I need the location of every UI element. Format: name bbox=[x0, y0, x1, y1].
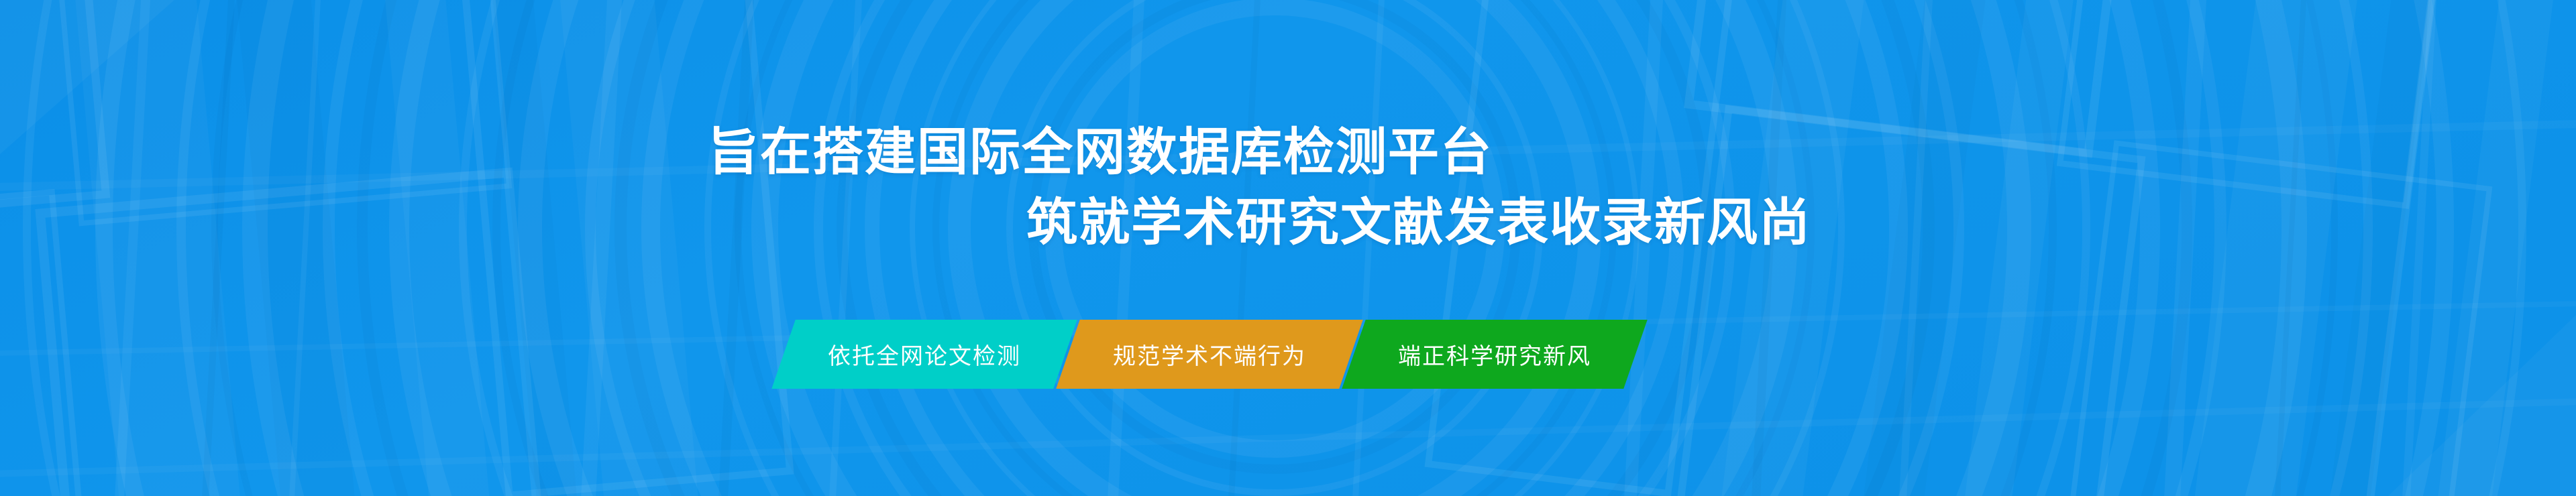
headline-line-2: 筑就学术研究文献发表收录新风尚 bbox=[0, 188, 1851, 259]
banner-content: 旨在搭建国际全网数据库检测平台 筑就学术研究文献发表收录新风尚 依托全网论文检测… bbox=[0, 0, 2576, 496]
feature-tag-misconduct-label: 规范学术不端行为 bbox=[1113, 338, 1306, 371]
feature-tag-integrity-label: 端正科学研究新风 bbox=[1398, 338, 1591, 371]
hero-banner: 旨在搭建国际全网数据库检测平台 筑就学术研究文献发表收录新风尚 依托全网论文检测… bbox=[0, 0, 2576, 496]
feature-tag-strip: 依托全网论文检测 规范学术不端行为 端正科学研究新风 bbox=[784, 320, 1635, 389]
feature-tag-misconduct[interactable]: 规范学术不端行为 bbox=[1056, 320, 1362, 389]
feature-tag-integrity[interactable]: 端正科学研究新风 bbox=[1342, 320, 1647, 389]
headline-line-1: 旨在搭建国际全网数据库检测平台 bbox=[0, 118, 1851, 188]
feature-tag-detection[interactable]: 依托全网论文检测 bbox=[771, 320, 1077, 389]
feature-tag-detection-label: 依托全网论文检测 bbox=[828, 338, 1021, 371]
headline-block: 旨在搭建国际全网数据库检测平台 筑就学术研究文献发表收录新风尚 bbox=[0, 118, 1851, 259]
